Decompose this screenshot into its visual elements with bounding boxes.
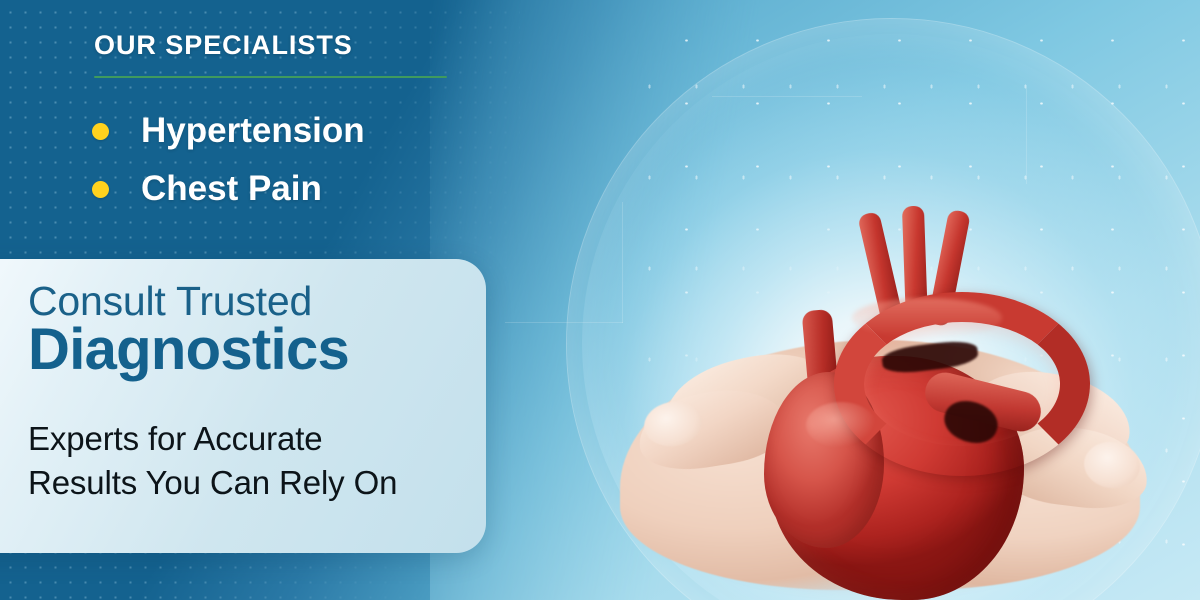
headline-line-1: Consult Trusted	[28, 281, 312, 322]
eyebrow-heading: OUR SPECIALISTS	[94, 32, 462, 59]
list-item: Hypertension	[92, 113, 512, 150]
specialist-label: Hypertension	[141, 113, 365, 150]
bullet-dot-icon	[92, 123, 109, 140]
headline-card: Consult Trusted Diagnostics Experts for …	[0, 259, 486, 553]
anatomical-heart	[748, 206, 1078, 600]
list-item: Chest Pain	[92, 171, 512, 208]
eyebrow-underline	[94, 76, 447, 78]
healthcare-promo-banner: OUR SPECIALISTS Hypertension Chest Pain …	[0, 0, 1200, 600]
eyebrow-heading-block: OUR SPECIALISTS	[94, 32, 462, 78]
headline-subtext-line-2: Results You Can Rely On	[28, 462, 397, 504]
headline-subtext: Experts for Accurate Results You Can Rel…	[28, 418, 397, 504]
headline-line-2: Diagnostics	[28, 321, 349, 379]
heart-specular-highlight	[806, 402, 876, 448]
specialists-list: Hypertension Chest Pain	[92, 113, 512, 229]
specialist-label: Chest Pain	[141, 171, 322, 208]
bullet-dot-icon	[92, 181, 109, 198]
headline-subtext-line-1: Experts for Accurate	[28, 418, 397, 460]
accent-line-horizontal-2	[712, 96, 862, 97]
accent-line-vertical-2	[1026, 88, 1027, 184]
aortic-arch-highlight	[852, 298, 1002, 338]
hands-holding-heart-illustration	[598, 206, 1158, 600]
